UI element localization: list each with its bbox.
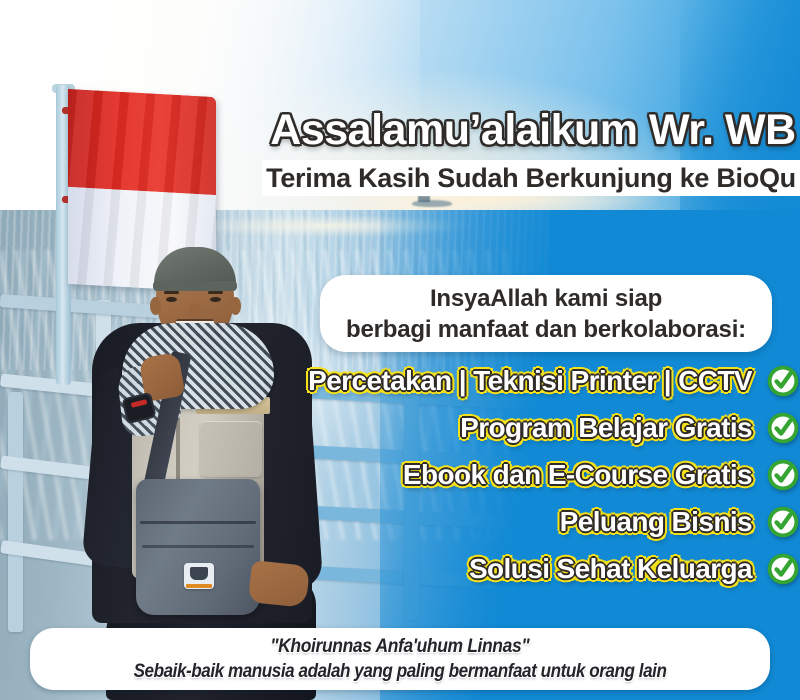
services-list: Percetakan | Teknisi Printer | CCTV Prog…: [120, 358, 800, 593]
person-brow: [208, 291, 223, 294]
page-title: Assalamu’alaikum Wr. WB: [266, 105, 800, 155]
service-label: Ebook dan E-Course Gratis: [403, 457, 752, 493]
service-label: Solusi Sehat Keluarga: [469, 551, 752, 587]
page-subtitle: Terima Kasih Sudah Berkunjung ke BioQu: [262, 160, 800, 196]
person-nose: [189, 303, 200, 317]
person-eye: [210, 297, 221, 302]
railing-post: [8, 392, 23, 632]
service-label: Peluang Bisnis: [560, 504, 752, 540]
service-label: Program Belajar Gratis: [460, 410, 752, 446]
check-circle-icon: [766, 505, 800, 539]
person-ear: [230, 297, 241, 315]
check-circle-icon: [766, 458, 800, 492]
list-item: Ebook dan E-Course Gratis: [120, 452, 800, 498]
list-item: Program Belajar Gratis: [120, 405, 800, 451]
list-item: Peluang Bisnis: [120, 499, 800, 545]
check-circle-icon: [766, 411, 800, 445]
intro-line-2: berbagi manfaat dan berkolaborasi:: [346, 314, 746, 345]
service-label: Percetakan | Teknisi Printer | CCTV: [308, 363, 752, 399]
person-ear: [150, 297, 161, 315]
greeting-poster: YAHYA: [0, 0, 800, 700]
list-item: Solusi Sehat Keluarga: [120, 546, 800, 592]
person-brow: [164, 291, 179, 294]
footer-quote: "Khoirunnas Anfa'uhum Linnas": [270, 635, 529, 658]
peci-cap-band: [153, 281, 237, 291]
person-eye: [166, 297, 177, 302]
intro-line-1: InsyaAllah kami siap: [430, 283, 662, 314]
distant-boat: [418, 196, 430, 202]
check-circle-icon: [766, 552, 800, 586]
check-circle-icon: [766, 364, 800, 398]
footer-card-text: "Khoirunnas Anfa'uhum Linnas" Sebaik-bai…: [30, 628, 770, 690]
intro-card-text: InsyaAllah kami siap berbagi manfaat dan…: [320, 275, 772, 352]
list-item: Percetakan | Teknisi Printer | CCTV: [120, 358, 800, 404]
footer-translation: Sebaik-baik manusia adalah yang paling b…: [134, 660, 667, 683]
